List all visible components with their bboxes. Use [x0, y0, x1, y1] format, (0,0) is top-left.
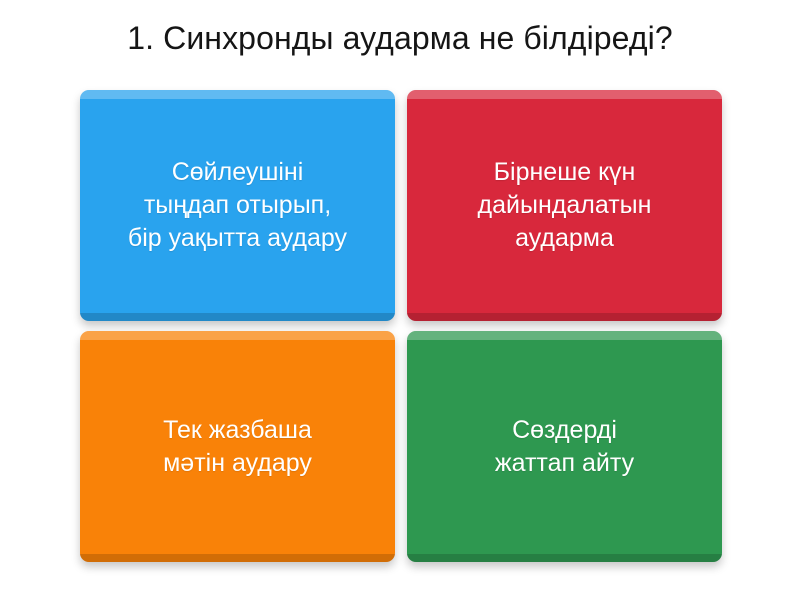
answer-options-grid: Сөйлеушіні тыңдап отырып, бір уақытта ау…	[80, 90, 722, 562]
answer-option-b-label: Бірнеше күн дайындалатын аударма	[468, 156, 662, 255]
answer-option-a[interactable]: Сөйлеушіні тыңдап отырып, бір уақытта ау…	[80, 90, 395, 321]
quiz-screen: 1. Синхронды аударма не білдіреді? Сөйле…	[0, 0, 800, 600]
answer-option-d[interactable]: Сөздерді жаттап айту	[407, 331, 722, 562]
answer-option-c[interactable]: Тек жазбаша мәтін аудару	[80, 331, 395, 562]
answer-option-b[interactable]: Бірнеше күн дайындалатын аударма	[407, 90, 722, 321]
answer-option-c-label: Тек жазбаша мәтін аудару	[153, 414, 322, 480]
answer-option-a-label: Сөйлеушіні тыңдап отырып, бір уақытта ау…	[118, 156, 357, 255]
answer-option-d-label: Сөздерді жаттап айту	[485, 414, 644, 480]
page-title: 1. Синхронды аударма не білдіреді?	[0, 18, 800, 58]
